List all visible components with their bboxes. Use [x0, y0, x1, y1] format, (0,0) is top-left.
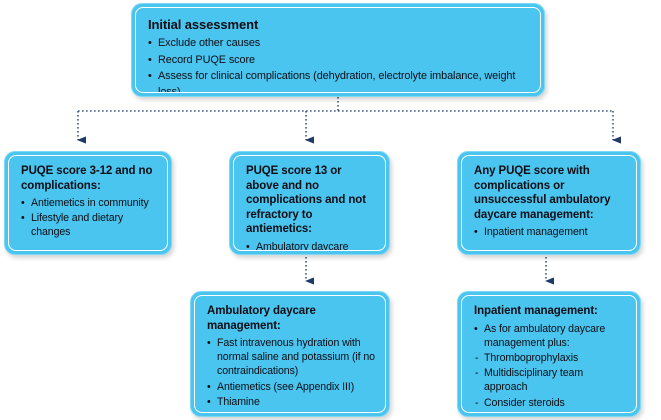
list-item: As for ambulatory daycare management plu…: [474, 322, 626, 350]
node-any-puqe-with-complications: Any PUQE score with complications or uns…: [457, 151, 641, 255]
node-title: Initial assessment: [148, 16, 530, 33]
node-title: PUQE score 3-12 and no complications:: [21, 164, 157, 193]
node-body: Inpatient management: As for ambulatory …: [461, 295, 637, 413]
list-item: Antiemetics in community: [21, 196, 157, 210]
node-title: PUQE score 13 or above and no complicati…: [246, 164, 375, 237]
list-item: Lifestyle and dietary changes: [21, 211, 157, 239]
node-body: PUQE score 3-12 and no complications: An…: [8, 155, 168, 251]
node-item-list: Exclude other causes Record PUQE score A…: [148, 36, 530, 93]
node-puqe-13-or-above: PUQE score 13 or above and no complicati…: [229, 151, 390, 255]
list-item: Consider steroids: [474, 396, 626, 410]
list-item: Multidisciplinary team approach: [474, 366, 626, 394]
list-item: Thromboprophylaxis: [474, 351, 626, 365]
list-item: Inpatient management: [474, 225, 626, 239]
node-body: Initial assessment Exclude other causes …: [135, 7, 541, 93]
node-item-list: Inpatient management: [474, 225, 626, 239]
node-item-list: Fast intravenous hydration with normal s…: [207, 336, 375, 409]
edge-initial-to-bus: [78, 97, 613, 111]
node-puqe-3-12: PUQE score 3-12 and no complications: An…: [4, 151, 172, 255]
node-item-list: Ambulatory daycare management until no k…: [246, 240, 375, 252]
node-initial-assessment: Initial assessment Exclude other causes …: [131, 3, 545, 97]
list-item: Antiemetics (see Appendix III): [207, 380, 375, 394]
node-item-list: Antiemetics in community Lifestyle and d…: [21, 196, 157, 240]
node-title: Ambulatory daycare management:: [207, 304, 375, 333]
list-item: Ambulatory daycare management until no k…: [246, 240, 375, 252]
node-body: Ambulatory daycare management: Fast intr…: [194, 295, 386, 413]
node-inpatient-management: Inpatient management: As for ambulatory …: [457, 291, 641, 417]
flowchart-canvas: Initial assessment Exclude other causes …: [0, 0, 661, 420]
list-item: Record PUQE score: [148, 53, 530, 69]
node-ambulatory-daycare-management: Ambulatory daycare management: Fast intr…: [190, 291, 390, 417]
node-body: PUQE score 13 or above and no complicati…: [233, 155, 386, 251]
list-item: Assess for clinical complications (dehyd…: [148, 69, 530, 93]
list-item: Exclude other causes: [148, 36, 530, 52]
list-item: Fast intravenous hydration with normal s…: [207, 336, 375, 379]
node-title: Any PUQE score with complications or uns…: [474, 164, 626, 222]
node-title: Inpatient management:: [474, 304, 626, 319]
node-item-list: As for ambulatory daycare management plu…: [474, 322, 626, 410]
node-body: Any PUQE score with complications or uns…: [461, 155, 637, 251]
list-item: Thiamine: [207, 395, 375, 409]
